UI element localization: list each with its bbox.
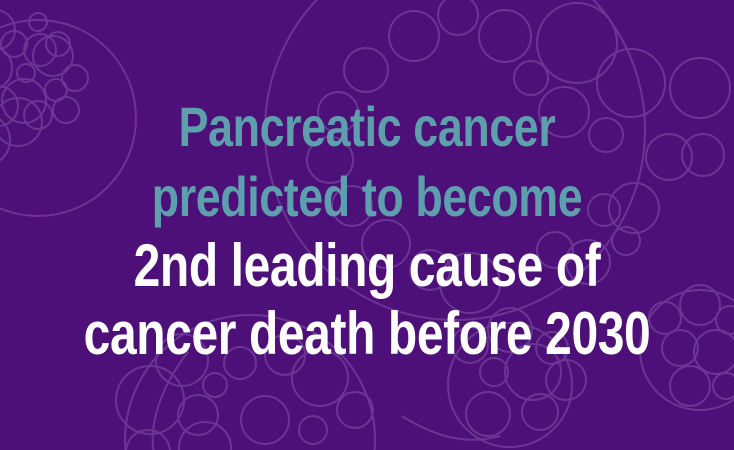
headline-line-2: predicted to become [73,162,660,232]
headline-line-1: Pancreatic cancer [73,92,660,162]
promo-banner: Pancreatic cancer predicted to become 2n… [0,0,734,450]
headline-line-3: 2nd leading cause of [73,232,660,300]
page-title: Pancreatic cancer predicted to become 2n… [0,92,734,368]
headline-line-4: cancer death before 2030 [73,300,660,368]
banner-content: Pancreatic cancer predicted to become 2n… [0,0,734,450]
